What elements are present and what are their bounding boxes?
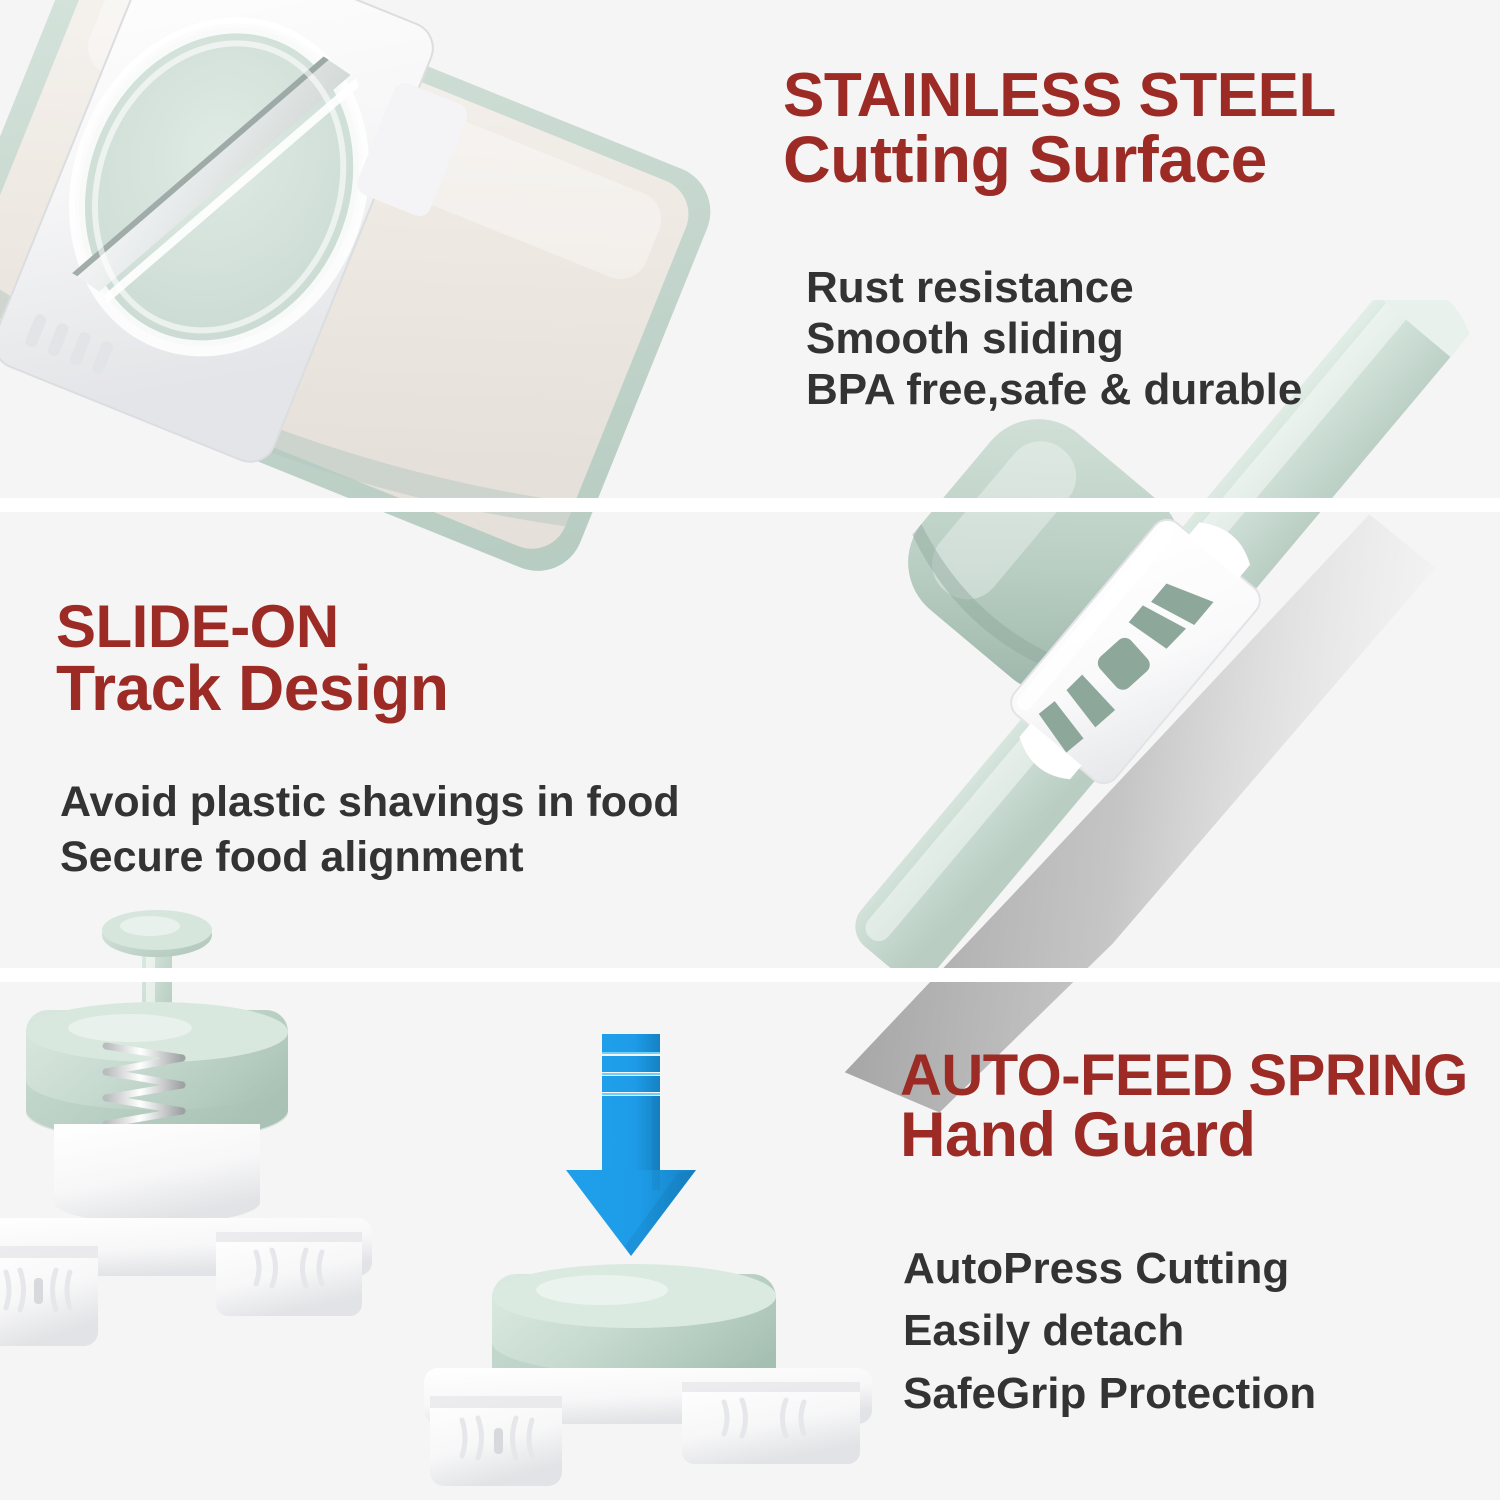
spring-plunger-extended-image	[0, 880, 410, 1440]
bullet-item: Avoid plastic shavings in food	[60, 775, 680, 830]
stainless-steel-bullets: Rust resistance Smooth sliding BPA free,…	[806, 262, 1302, 415]
press-arrow	[566, 1034, 696, 1256]
headline-line-1: STAINLESS STEEL	[783, 66, 1336, 127]
auto-feed-spring-bullets: AutoPress Cutting Easily detach SafeGrip…	[903, 1238, 1316, 1425]
auto-feed-spring-headline: AUTO-FEED SPRING Hand Guard	[900, 1048, 1468, 1167]
hand-guard-image	[700, 300, 1500, 1120]
bullet-item: AutoPress Cutting	[903, 1238, 1316, 1300]
infographic-page: STAINLESS STEEL Cutting Surface Rust res…	[0, 0, 1500, 1500]
bullet-item: Rust resistance	[806, 262, 1302, 313]
slide-on-track-headline: SLIDE-ON Track Design	[56, 598, 448, 720]
headline-line-1: AUTO-FEED SPRING	[900, 1048, 1468, 1105]
bullet-item: Easily detach	[903, 1300, 1316, 1362]
section-divider-bottom	[0, 968, 1500, 982]
bullet-item: SafeGrip Protection	[903, 1363, 1316, 1425]
slide-on-track-bullets: Avoid plastic shavings in food Secure fo…	[60, 775, 680, 885]
bullet-item: BPA free,safe & durable	[806, 364, 1302, 415]
headline-line-2: Track Design	[56, 657, 448, 720]
section-divider-top	[0, 498, 1500, 512]
stainless-steel-headline: STAINLESS STEEL Cutting Surface	[783, 66, 1336, 191]
headline-line-1: SLIDE-ON	[56, 598, 448, 657]
bullet-item: Smooth sliding	[806, 313, 1302, 364]
bullet-item: Secure food alignment	[60, 830, 680, 885]
headline-line-2: Cutting Surface	[783, 127, 1336, 192]
headline-line-2: Hand Guard	[900, 1105, 1468, 1167]
